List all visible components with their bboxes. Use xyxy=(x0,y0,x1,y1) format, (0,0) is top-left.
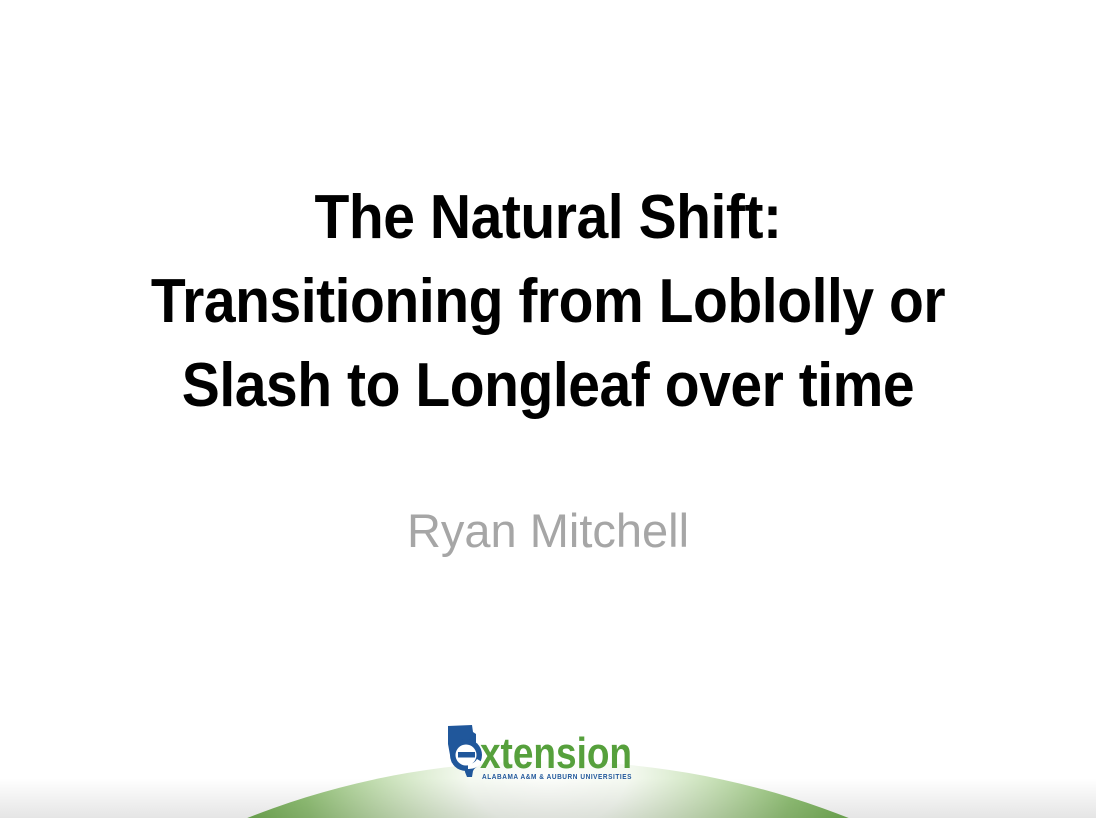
title-line-3: Slash to Longleaf over time xyxy=(44,344,1052,428)
title-line-2: Transitioning from Loblolly or xyxy=(44,260,1052,344)
extension-logo-artwork: xtension ALABAMA A&M & AUBURN UNIVERSITI… xyxy=(442,722,666,784)
title-line-1: The Natural Shift: xyxy=(44,176,1052,260)
logo-wordmark: xtension xyxy=(480,729,632,778)
presenter-name: Ryan Mitchell xyxy=(0,500,1096,562)
presentation-slide: The Natural Shift: Transitioning from Lo… xyxy=(0,0,1096,818)
extension-logo: xtension ALABAMA A&M & AUBURN UNIVERSITI… xyxy=(442,722,666,784)
logo-letter-e xyxy=(450,739,482,771)
svg-text:ALABAMA A&M & AUBURN UNIVERSIT: ALABAMA A&M & AUBURN UNIVERSITIES xyxy=(482,774,632,781)
logo-tagline: ALABAMA A&M & AUBURN UNIVERSITIES xyxy=(482,774,632,781)
svg-text:xtension: xtension xyxy=(480,729,632,778)
page-title: The Natural Shift: Transitioning from Lo… xyxy=(0,176,1096,428)
footer-arc-shading xyxy=(0,778,1096,818)
